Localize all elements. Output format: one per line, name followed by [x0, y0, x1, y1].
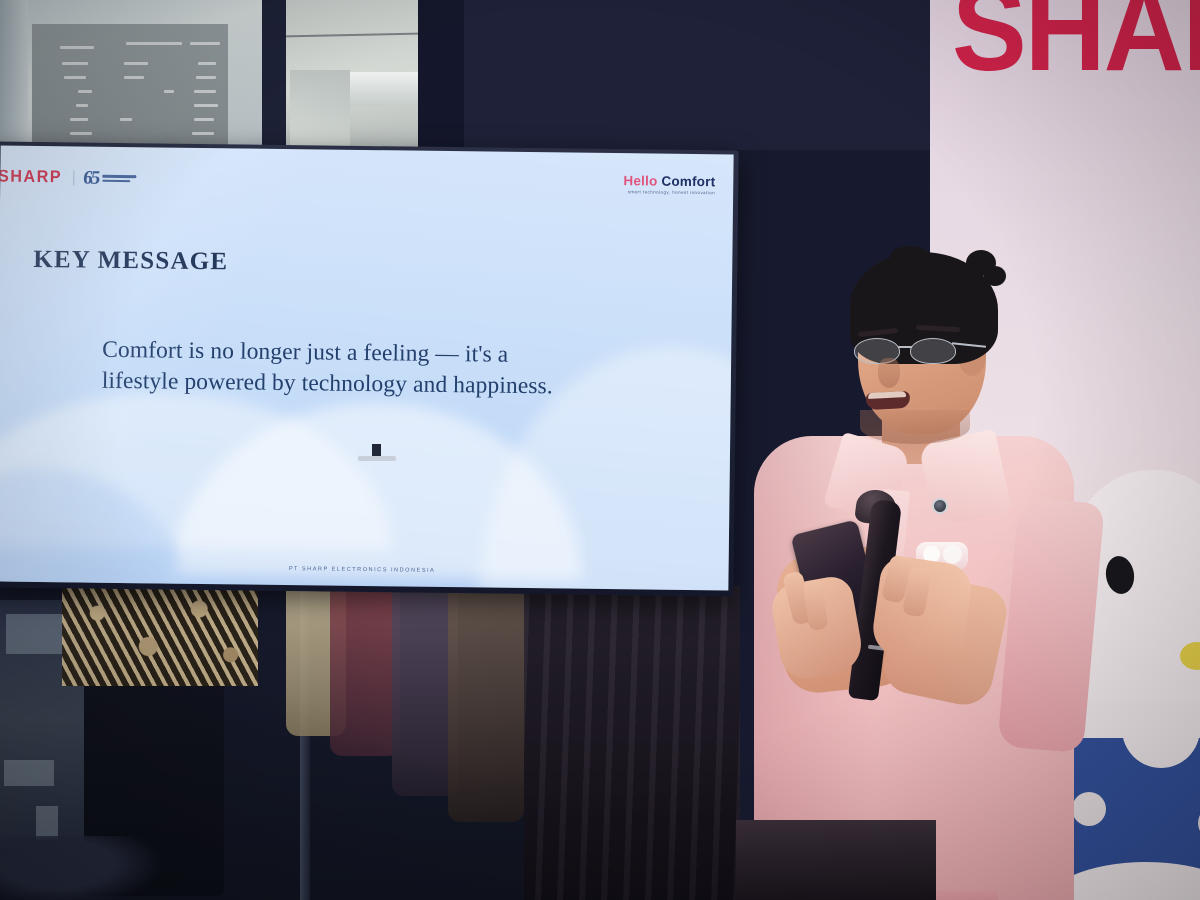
presenter [740, 250, 1100, 900]
brand-divider [73, 170, 74, 185]
foreground-floor-object [0, 836, 160, 900]
dark-column-left [418, 0, 464, 160]
directory-board [32, 24, 228, 158]
nose [878, 358, 900, 388]
slide-surface: SHARP 65 Hello Comfo [0, 146, 734, 591]
comfort-word: Comfort [661, 174, 715, 190]
dark-curtain [524, 586, 740, 900]
hair-spike [984, 266, 1006, 286]
sharp-logo: SHARP [0, 167, 62, 188]
glasses-temple [952, 342, 986, 347]
glass-wall-left [0, 0, 262, 160]
slide-brand-group: SHARP 65 [0, 167, 136, 189]
anniversary-wordmark [102, 175, 136, 182]
anniversary-text-line [102, 175, 136, 178]
window-frame-dark [262, 0, 286, 160]
slide-body-text: Comfort is no longer just a feeling — it… [102, 335, 673, 405]
anniversary-logo: 65 [83, 168, 136, 188]
eyeglasses [852, 338, 982, 364]
lapel-microphone-icon [932, 498, 948, 514]
tv-bezel: SHARP 65 Hello Comfo [0, 141, 739, 596]
hanging-garment [330, 586, 400, 756]
hello-word: Hello [623, 173, 657, 188]
hair-spike [890, 246, 930, 266]
anniversary-number: 65 [82, 168, 99, 187]
hello-comfort-wordmark: Hello Comfort [623, 174, 715, 189]
floor-shadow [736, 820, 936, 900]
banner-sharp-wordmark: SHARP [952, 0, 1200, 98]
window-mullion [0, 0, 28, 160]
hanging-garment [448, 586, 524, 822]
anniversary-text-line [102, 179, 130, 182]
hello-comfort-logo: Hello Comfort smart technology, honest i… [623, 174, 715, 195]
slide-title: KEY MESSAGE [33, 246, 228, 276]
presentation-tv: SHARP 65 Hello Comfo [0, 141, 739, 596]
batik-garment [62, 586, 258, 686]
tv-stand-foot [358, 456, 396, 461]
ceiling-panel-a [290, 70, 350, 148]
retail-mannequin-display [0, 586, 740, 900]
mascot-overalls-notch [1122, 724, 1200, 768]
ceiling-panel-b [350, 72, 418, 106]
photo-scene: SHARP [0, 0, 1200, 900]
glasses-lens-right [910, 338, 956, 364]
glasses-bridge [898, 346, 912, 348]
slide-header: SHARP 65 Hello Comfo [0, 160, 733, 203]
campaign-tagline: smart technology, honest innovation [623, 190, 715, 196]
jaw-shading [860, 410, 970, 444]
dark-wall-upper [464, 0, 930, 150]
